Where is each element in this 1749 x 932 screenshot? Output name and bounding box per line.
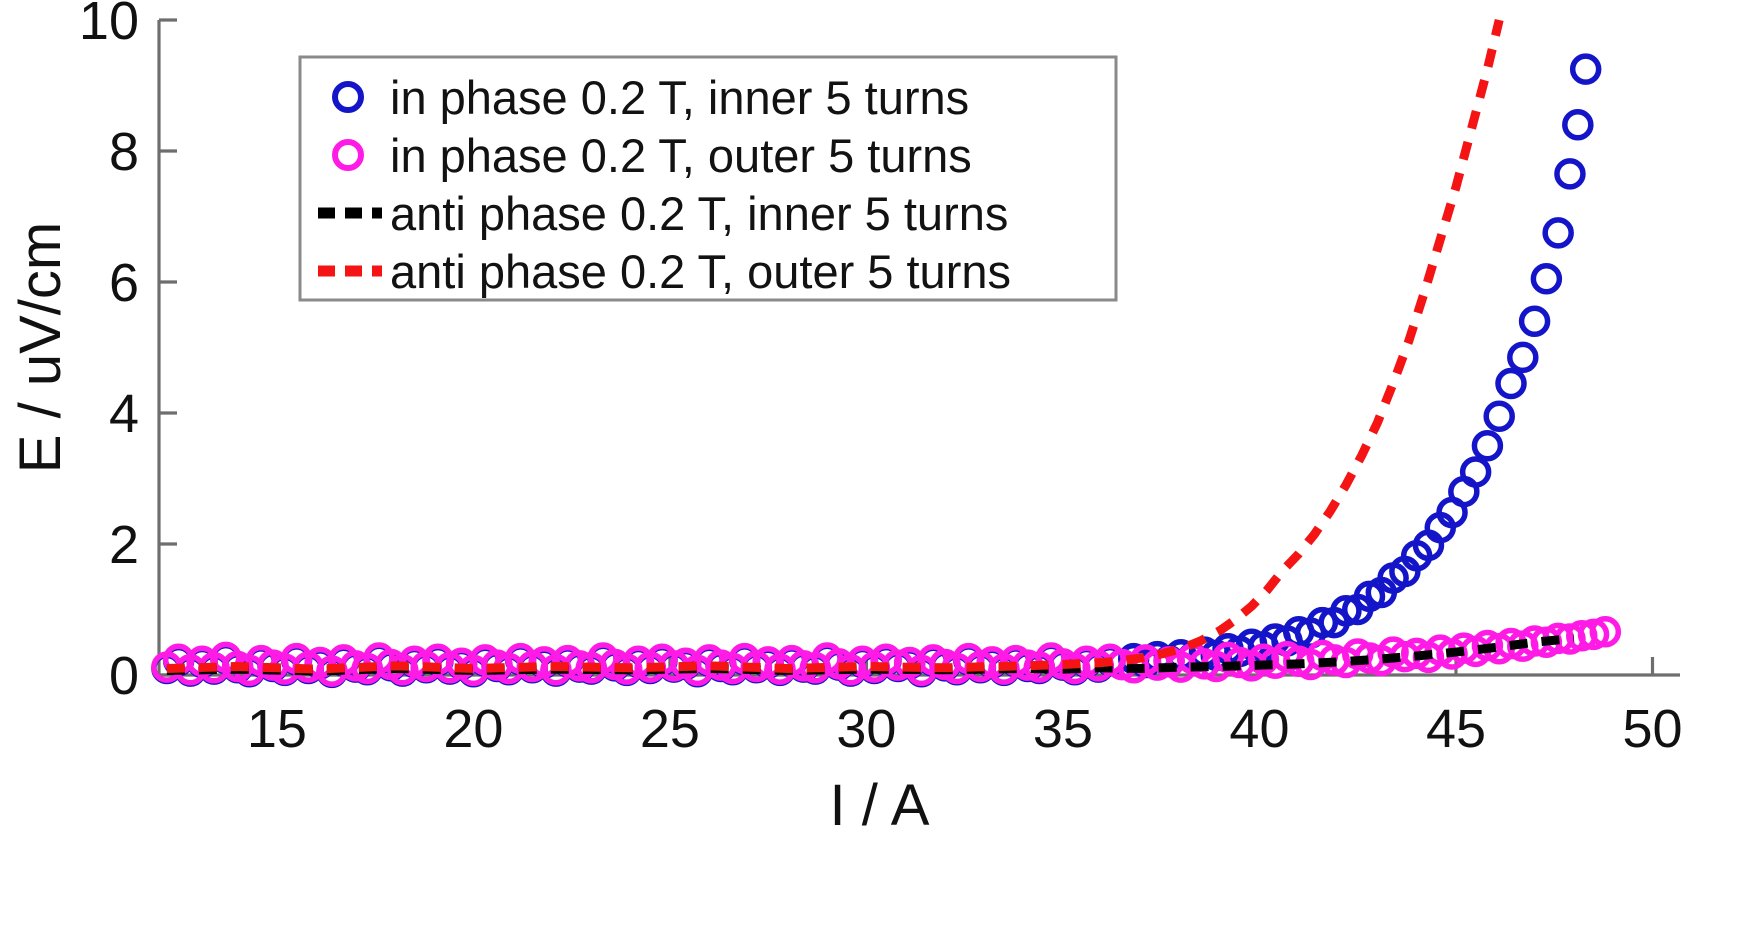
legend-entry-2[interactable]: anti phase 0.2 T, inner 5 turns: [318, 187, 1008, 240]
plot-canvas: 02468101520253035404550 in phase 0.2 T, …: [0, 0, 1749, 932]
x-tick-label: 40: [1229, 699, 1289, 759]
y-tick-label: 8: [109, 122, 139, 182]
x-tick-label: 45: [1426, 699, 1486, 759]
legend-label: anti phase 0.2 T, outer 5 turns: [390, 245, 1011, 298]
y-tick-label: 4: [109, 384, 139, 444]
chart-legend: in phase 0.2 T, inner 5 turnsin phase 0.…: [300, 57, 1116, 300]
legend-label: in phase 0.2 T, inner 5 turns: [390, 71, 969, 124]
legend-entry-1[interactable]: in phase 0.2 T, outer 5 turns: [335, 129, 972, 182]
legend-label: anti phase 0.2 T, inner 5 turns: [390, 187, 1008, 240]
data-point-marker: [1565, 112, 1591, 138]
y-axis-title: E / uV/cm: [8, 222, 73, 473]
x-tick-label: 35: [1033, 699, 1093, 759]
x-tick-label: 50: [1622, 699, 1682, 759]
x-tick-label: 20: [443, 699, 503, 759]
data-point-marker: [1463, 459, 1489, 485]
data-point-marker: [1533, 266, 1559, 292]
x-tick-label: 15: [247, 699, 307, 759]
legend-entry-3[interactable]: anti phase 0.2 T, outer 5 turns: [318, 245, 1011, 298]
data-point-marker: [1573, 56, 1599, 82]
x-tick-label: 30: [836, 699, 896, 759]
data-point-marker: [1522, 308, 1548, 334]
data-point-marker: [1545, 220, 1571, 246]
data-point-marker: [1486, 403, 1512, 429]
chart-page: 02468101520253035404550 in phase 0.2 T, …: [0, 0, 1749, 932]
data-point-marker: [1498, 371, 1524, 397]
y-tick-label: 0: [109, 646, 139, 706]
x-axis-title: I / A: [830, 773, 930, 838]
x-tick-label: 25: [640, 699, 700, 759]
y-tick-label: 6: [109, 253, 139, 313]
data-point-marker: [1557, 161, 1583, 187]
y-tick-label: 2: [109, 515, 139, 575]
data-point-marker: [1510, 344, 1536, 370]
y-tick-label: 10: [79, 0, 139, 51]
data-point-marker: [1474, 433, 1500, 459]
legend-label: in phase 0.2 T, outer 5 turns: [390, 129, 972, 182]
legend-entry-0[interactable]: in phase 0.2 T, inner 5 turns: [335, 71, 969, 124]
